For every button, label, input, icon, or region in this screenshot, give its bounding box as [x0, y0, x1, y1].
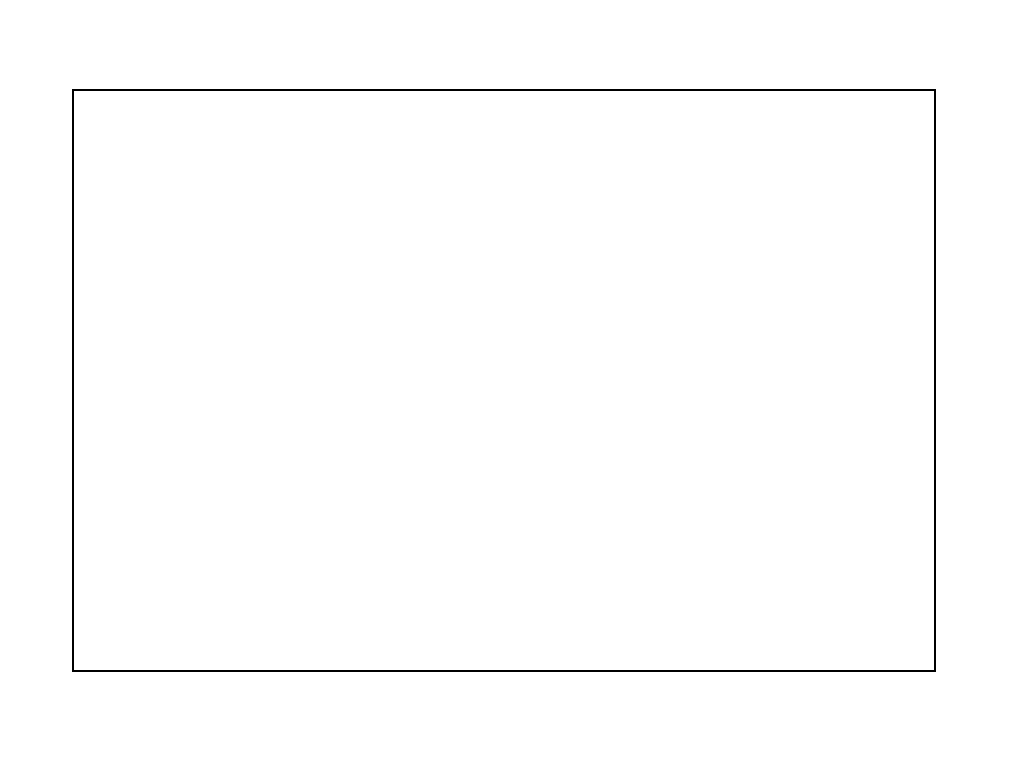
- colorbar[interactable]: [944, 310, 970, 434]
- chart-page: [0, 0, 1024, 768]
- plot-area: [72, 89, 936, 672]
- terrain-layer: [74, 91, 934, 670]
